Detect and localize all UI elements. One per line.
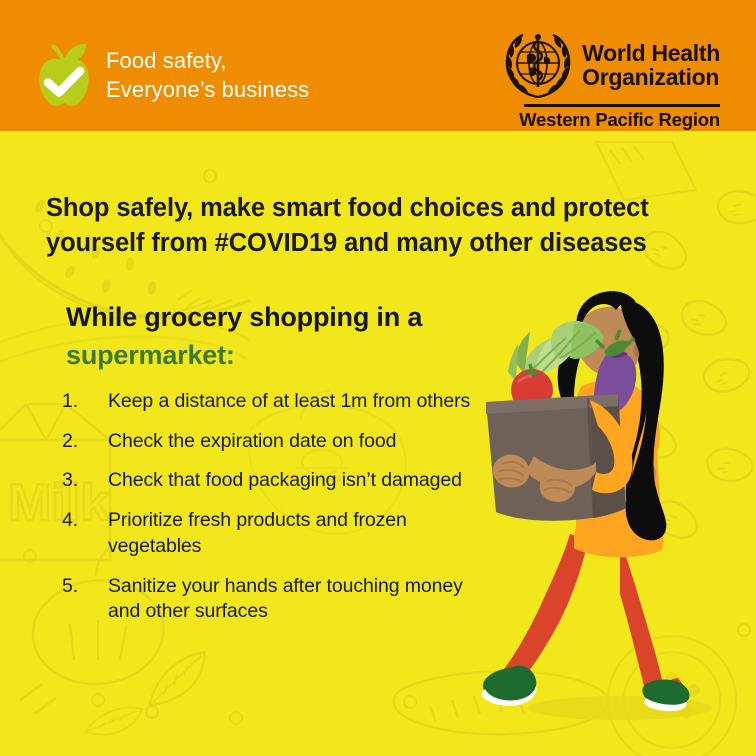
who-emblem [503, 31, 573, 101]
list-item-number: 2. [62, 429, 108, 455]
poster-canvas: Milk [0, 0, 756, 756]
list-item-number: 3. [62, 468, 108, 494]
page-header: Food safety, Everyone’s business [0, 0, 756, 131]
list-item-number: 1. [62, 389, 108, 415]
list-item-text: Check that food packaging isn’t damaged [108, 468, 482, 494]
who-organization-name: World Health Organization [582, 42, 720, 90]
page-headline: Shop safely, make smart food choices and… [46, 191, 706, 260]
brand-tagline: Food safety, Everyone’s business [106, 46, 309, 105]
who-divider-rule [524, 104, 720, 107]
list-item: 4. Prioritize fresh products and frozen … [62, 508, 482, 559]
list-item: 1. Keep a distance of at least 1m from o… [62, 389, 482, 415]
list-item: 3. Check that food packaging isn’t damag… [62, 468, 482, 494]
list-item-number: 5. [62, 574, 108, 600]
who-region-name: Western Pacific Region [519, 109, 720, 131]
list-item-text: Prioritize fresh products and frozen veg… [108, 508, 482, 559]
subheading-line-2: supermarket: [66, 340, 235, 370]
list-item-number: 4. [62, 508, 108, 534]
list-item: 5. Sanitize your hands after touching mo… [62, 574, 482, 625]
section-subheading: While grocery shopping in a supermarket: [66, 298, 496, 375]
list-item-text: Sanitize your hands after touching money… [108, 574, 482, 625]
subheading-line-1: While grocery shopping in a [66, 302, 422, 332]
list-item-text: Check the expiration date on food [108, 429, 482, 455]
list-item-text: Keep a distance of at least 1m from othe… [108, 389, 482, 415]
food-safety-brand-lockup: Food safety, Everyone’s business [36, 40, 309, 110]
who-logo-lockup: World Health Organization Western Pacifi… [503, 31, 720, 131]
main-content: Shop safely, make smart food choices and… [0, 131, 756, 756]
apple-check-logo [36, 40, 92, 110]
list-item: 2. Check the expiration date on food [62, 429, 482, 455]
safety-steps-list: 1. Keep a distance of at least 1m from o… [62, 389, 482, 639]
